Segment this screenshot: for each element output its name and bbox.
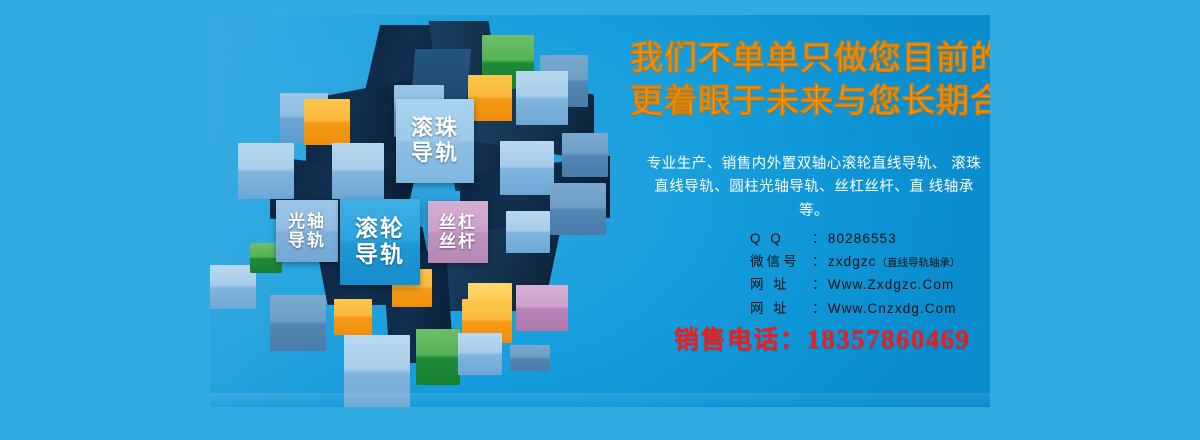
- contact-label: Q Q: [750, 227, 812, 250]
- cube: [238, 143, 294, 199]
- contact-colon: ：: [812, 297, 826, 320]
- sales-phone[interactable]: 销售电话：18357860469: [674, 320, 970, 356]
- contact-row-website-1[interactable]: 网 址 ： Www.Zxdgzc.Com: [750, 273, 990, 296]
- chip-line-1: 丝杠: [439, 213, 477, 232]
- contact-row-wechat[interactable]: 微信号 ： zxdgzc （直线导轨轴承）: [750, 250, 990, 273]
- cube: [270, 295, 326, 351]
- contact-colon: ：: [812, 250, 826, 273]
- cube: [500, 141, 554, 195]
- product-chip-sigang-sigan[interactable]: 丝杠 丝杆: [428, 201, 488, 263]
- cube: [468, 75, 512, 121]
- contact-value: zxdgzc: [828, 250, 877, 273]
- chip-line-2: 丝杆: [439, 232, 477, 251]
- cube: [516, 71, 568, 125]
- headline: 我们不单单只做您目前的订单 更着眼于未来与您长期合作: [630, 37, 990, 123]
- banner-floor: [210, 393, 990, 407]
- contact-label: 网 址: [750, 297, 812, 320]
- chip-line-2: 导轨: [355, 242, 405, 268]
- contact-row-qq[interactable]: Q Q ： 80286553: [750, 227, 990, 250]
- contact-colon: ：: [812, 227, 826, 250]
- description-text: 专业生产、销售内外置双轴心滚轮直线导轨、 滚珠直线导轨、圆柱光轴导轨、丝杠丝杆、…: [644, 153, 984, 223]
- cube: [562, 133, 608, 177]
- contact-value: Www.Zxdgzc.Com: [828, 273, 954, 296]
- sales-phone-number: 18357860469: [807, 324, 971, 354]
- contact-value: 80286553: [828, 227, 897, 250]
- headline-line-1: 我们不单单只做您目前的订单: [630, 37, 990, 80]
- page-root: 滚珠 导轨 光轴 导轨 滚轮 导轨 丝杠 丝杆 我们不单单只做您目前的订单 更着…: [0, 0, 1200, 440]
- product-chip-guangzhou-daogui[interactable]: 光轴 导轨: [276, 200, 338, 262]
- chip-line-2: 导轨: [411, 141, 459, 166]
- cube: [506, 211, 550, 253]
- cube: [416, 329, 460, 385]
- cube: [516, 285, 568, 331]
- product-chip-gunlun-daogui[interactable]: 滚轮 导轨: [340, 199, 420, 285]
- cube: [304, 99, 350, 145]
- contact-value: Www.Cnzxdg.Com: [828, 297, 957, 320]
- contact-row-website-2[interactable]: 网 址 ： Www.Cnzxdg.Com: [750, 297, 990, 320]
- banner-content: 我们不单单只做您目前的订单 更着眼于未来与您长期合作 专业生产、销售内外置双轴心…: [630, 15, 990, 407]
- product-chip-gunzhu-daogui[interactable]: 滚珠 导轨: [396, 99, 474, 183]
- promo-banner: 滚珠 导轨 光轴 导轨 滚轮 导轨 丝杠 丝杆 我们不单单只做您目前的订单 更着…: [210, 15, 990, 407]
- contact-label: 微信号: [750, 250, 812, 273]
- cube: [510, 345, 550, 371]
- contact-note: （直线导轨轴承）: [877, 254, 961, 272]
- chip-line-1: 滚轮: [355, 216, 405, 242]
- contact-list: Q Q ： 80286553 微信号 ： zxdgzc （直线导轨轴承） 网 址…: [750, 227, 990, 320]
- cube-cluster-graphic: 滚珠 导轨 光轴 导轨 滚轮 导轨 丝杠 丝杆: [210, 15, 630, 407]
- chip-line-1: 滚珠: [411, 116, 459, 141]
- chip-line-2: 导轨: [288, 231, 326, 250]
- contact-colon: ：: [812, 273, 826, 296]
- cube: [332, 143, 384, 199]
- sales-phone-label: 销售电话：: [674, 326, 807, 354]
- cube: [458, 333, 502, 375]
- contact-label: 网 址: [750, 273, 812, 296]
- chip-line-1: 光轴: [288, 212, 326, 231]
- description-line-1: 专业生产、销售内外置双轴心滚轮直线导轨、: [647, 156, 947, 172]
- headline-line-2: 更着眼于未来与您长期合作: [630, 80, 990, 123]
- cube: [334, 299, 372, 335]
- cube: [550, 183, 606, 235]
